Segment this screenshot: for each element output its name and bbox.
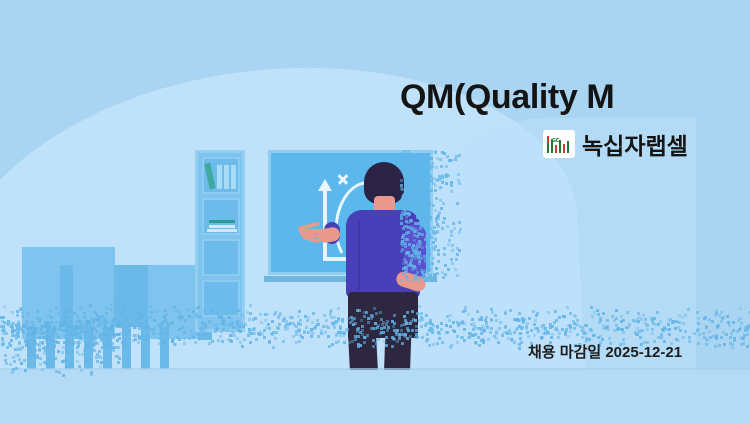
brand-name: 녹십자랩셀 <box>582 127 688 161</box>
bookshelf-shelf-2 <box>202 198 240 235</box>
bookshelf-shelf-4 <box>202 280 240 317</box>
bookshelf-shelf-1 <box>202 157 240 194</box>
book-stack-dark <box>209 220 235 223</box>
cabinet-4 <box>148 265 200 339</box>
book-stack-1 <box>209 225 235 228</box>
pointing-hand <box>298 222 324 240</box>
book-stack-2 <box>207 229 237 232</box>
shirt-seam-left <box>358 220 360 290</box>
banner-canvas: QM(Quality M GC 녹십자랩셀 채용 마감일 2025-12-21 <box>0 0 750 424</box>
floor <box>0 370 750 424</box>
book-1 <box>217 165 222 189</box>
gc-labcell-logo-icon: GC <box>543 130 575 158</box>
brand-row: GC 녹십자랩셀 <box>543 127 688 161</box>
deadline-text: 채용 마감일 2025-12-21 <box>528 341 682 362</box>
book-2 <box>224 165 229 189</box>
bookshelf-shelf-3 <box>202 239 240 276</box>
cabinet-2 <box>73 247 115 339</box>
page-title: QM(Quality M <box>400 78 614 117</box>
book-teal <box>204 163 215 190</box>
book-3 <box>231 165 236 189</box>
bookshelf <box>195 150 245 332</box>
cabinet-3-panel <box>114 265 148 327</box>
